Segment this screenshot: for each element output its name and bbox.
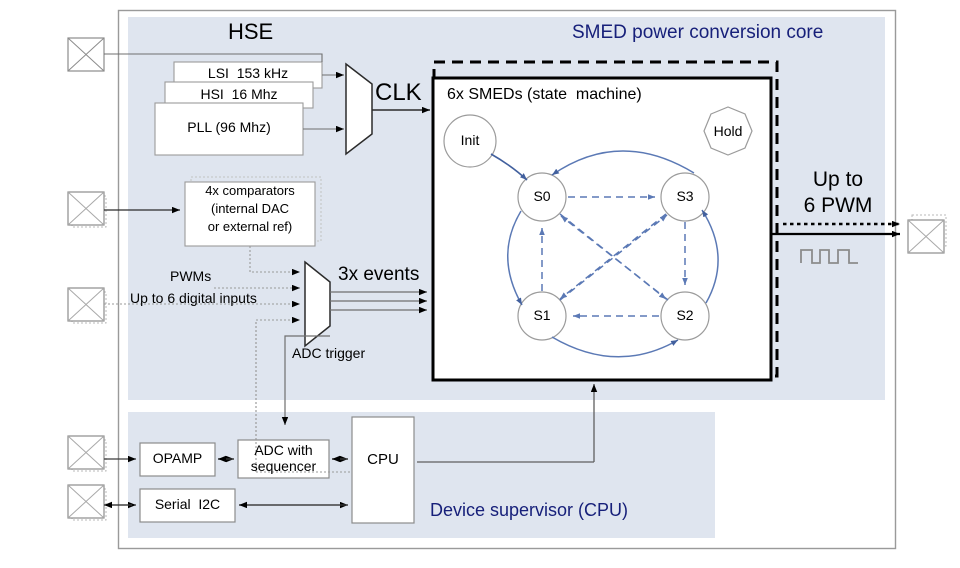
adc-sequencer-line2: sequencer bbox=[238, 459, 329, 475]
clock-source-lsi: LSI 153 kHz bbox=[174, 66, 322, 82]
edge-s0-s1-left bbox=[508, 211, 522, 305]
adc-trigger-label: ADC trigger bbox=[292, 346, 365, 362]
cpu-section-title: Device supervisor (CPU) bbox=[430, 500, 628, 520]
state-s2-label: S2 bbox=[659, 308, 711, 324]
comparators-line1: 4x comparators bbox=[185, 184, 315, 199]
edge-s1-s3-dashed bbox=[560, 215, 667, 300]
edge-s1-s2-bottom bbox=[552, 337, 678, 357]
cpu-label: CPU bbox=[352, 452, 414, 469]
core-title: SMED power conversion core bbox=[572, 22, 823, 43]
comparators-line2: (internal DAC bbox=[185, 202, 315, 217]
state-init-label: Init bbox=[444, 133, 496, 149]
clock-source-hsi: HSI 16 Mhz bbox=[165, 87, 313, 103]
clk-label: CLK bbox=[375, 80, 422, 107]
pwm-output-line1: Up to bbox=[793, 168, 883, 192]
edge-s3-s0-top bbox=[552, 151, 694, 175]
state-s3-label: S3 bbox=[659, 189, 711, 205]
smed-heading: 6x SMEDs (state machine) bbox=[447, 86, 642, 104]
edge-s2-s3-right bbox=[702, 210, 718, 303]
serial-i2c-label: Serial I2C bbox=[140, 497, 235, 513]
state-s0-label: S0 bbox=[516, 189, 568, 205]
state-s1-label: S1 bbox=[516, 308, 568, 324]
clock-source-pll: PLL (96 Mhz) bbox=[155, 120, 303, 136]
hse-label: HSE bbox=[228, 20, 273, 45]
state-hold-label: Hold bbox=[702, 124, 754, 140]
diagram-canvas: SMED power conversion core Device superv… bbox=[0, 0, 960, 568]
edge-init-s0 bbox=[491, 154, 527, 180]
pwm-output-line2: 6 PWM bbox=[793, 194, 883, 218]
opamp-label: OPAMP bbox=[140, 451, 215, 467]
events-label: 3x events bbox=[338, 264, 419, 285]
edge-s2-s0-dashed bbox=[561, 216, 668, 300]
comparators-line3: or external ref) bbox=[185, 220, 315, 235]
pwms-label: PWMs bbox=[170, 269, 211, 285]
edge-s0-s2-dashed bbox=[560, 214, 666, 299]
adc-sequencer-line1: ADC with bbox=[238, 443, 329, 459]
edge-s3-s1-dashed bbox=[560, 214, 666, 299]
digital-inputs-label: Up to 6 digital inputs bbox=[130, 291, 257, 307]
